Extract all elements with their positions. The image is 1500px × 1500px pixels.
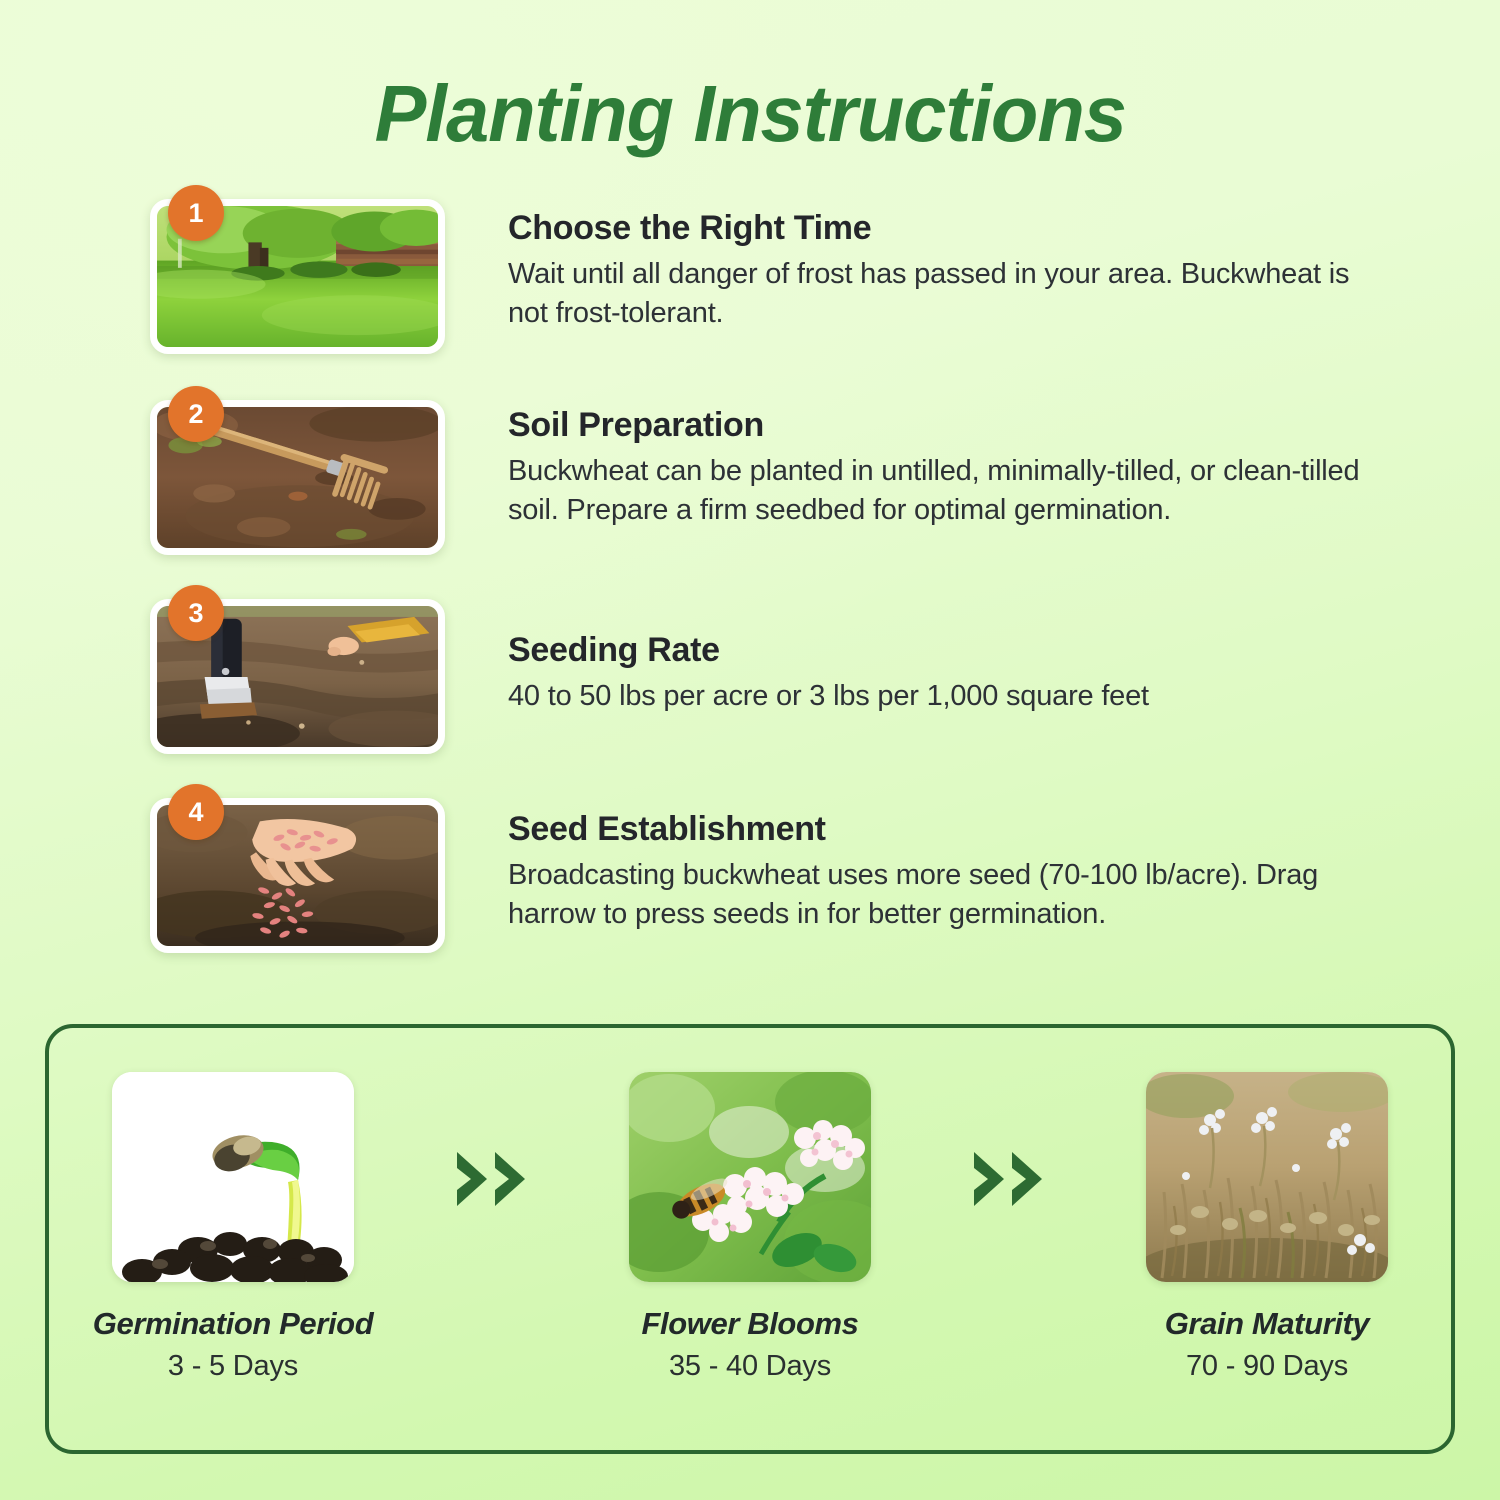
double-chevron-right-icon xyxy=(383,1072,600,1210)
timeline-stage-germination: Germination Period 3 - 5 Days xyxy=(83,1072,383,1383)
step-item: 1 xyxy=(150,185,1410,354)
step-text: Seeding Rate 40 to 50 lbs per acre or 3 … xyxy=(450,585,1410,716)
step-text: Choose the Right Time Wait until all dan… xyxy=(450,185,1410,332)
step-heading: Seeding Rate xyxy=(508,631,1410,670)
mature-buckwheat-field-photo xyxy=(1146,1072,1388,1282)
step-thumbnail-wrap: 4 xyxy=(150,784,450,953)
growth-timeline-panel: Germination Period 3 - 5 Days xyxy=(45,1024,1455,1454)
step-heading: Seed Establishment xyxy=(508,810,1410,849)
step-heading: Soil Preparation xyxy=(508,406,1410,445)
step-thumbnail-wrap: 3 xyxy=(150,585,450,754)
step-description: Buckwheat can be planted in untilled, mi… xyxy=(508,452,1388,529)
step-number-badge: 1 xyxy=(168,185,224,241)
timeline-row: Germination Period 3 - 5 Days xyxy=(49,1028,1451,1450)
timeline-stage-label: Germination Period xyxy=(83,1306,383,1342)
timeline-stage-value: 70 - 90 Days xyxy=(1117,1350,1417,1383)
timeline-stage-value: 3 - 5 Days xyxy=(83,1350,383,1383)
sprouting-seedling-photo xyxy=(112,1072,354,1282)
step-number-badge: 4 xyxy=(168,784,224,840)
page-title: Planting Instructions xyxy=(374,74,1125,154)
step-description: Wait until all danger of frost has passe… xyxy=(508,255,1388,332)
step-item: 4 xyxy=(150,784,1410,953)
timeline-stage-value: 35 - 40 Days xyxy=(600,1350,900,1383)
step-description: 40 to 50 lbs per acre or 3 lbs per 1,000… xyxy=(508,677,1388,716)
header: Planting Instructions xyxy=(0,0,1500,154)
step-item: 3 xyxy=(150,585,1410,754)
step-thumbnail-wrap: 1 xyxy=(150,185,450,354)
step-text: Soil Preparation Buckwheat can be plante… xyxy=(450,386,1410,529)
steps-list: 1 xyxy=(150,185,1410,985)
step-number-badge: 2 xyxy=(168,386,224,442)
step-number-badge: 3 xyxy=(168,585,224,641)
step-heading: Choose the Right Time xyxy=(508,209,1410,248)
double-chevron-right-icon xyxy=(900,1072,1117,1210)
timeline-stage-label: Grain Maturity xyxy=(1117,1306,1417,1342)
step-item: 2 xyxy=(150,386,1410,555)
timeline-stage-label: Flower Blooms xyxy=(600,1306,900,1342)
buckwheat-flowers-with-bee-photo xyxy=(629,1072,871,1282)
timeline-stage-flower: Flower Blooms 35 - 40 Days xyxy=(600,1072,900,1383)
step-text: Seed Establishment Broadcasting buckwhea… xyxy=(450,784,1410,933)
step-description: Broadcasting buckwheat uses more seed (7… xyxy=(508,856,1388,933)
timeline-stage-maturity: Grain Maturity 70 - 90 Days xyxy=(1117,1072,1417,1383)
step-thumbnail-wrap: 2 xyxy=(150,386,450,555)
